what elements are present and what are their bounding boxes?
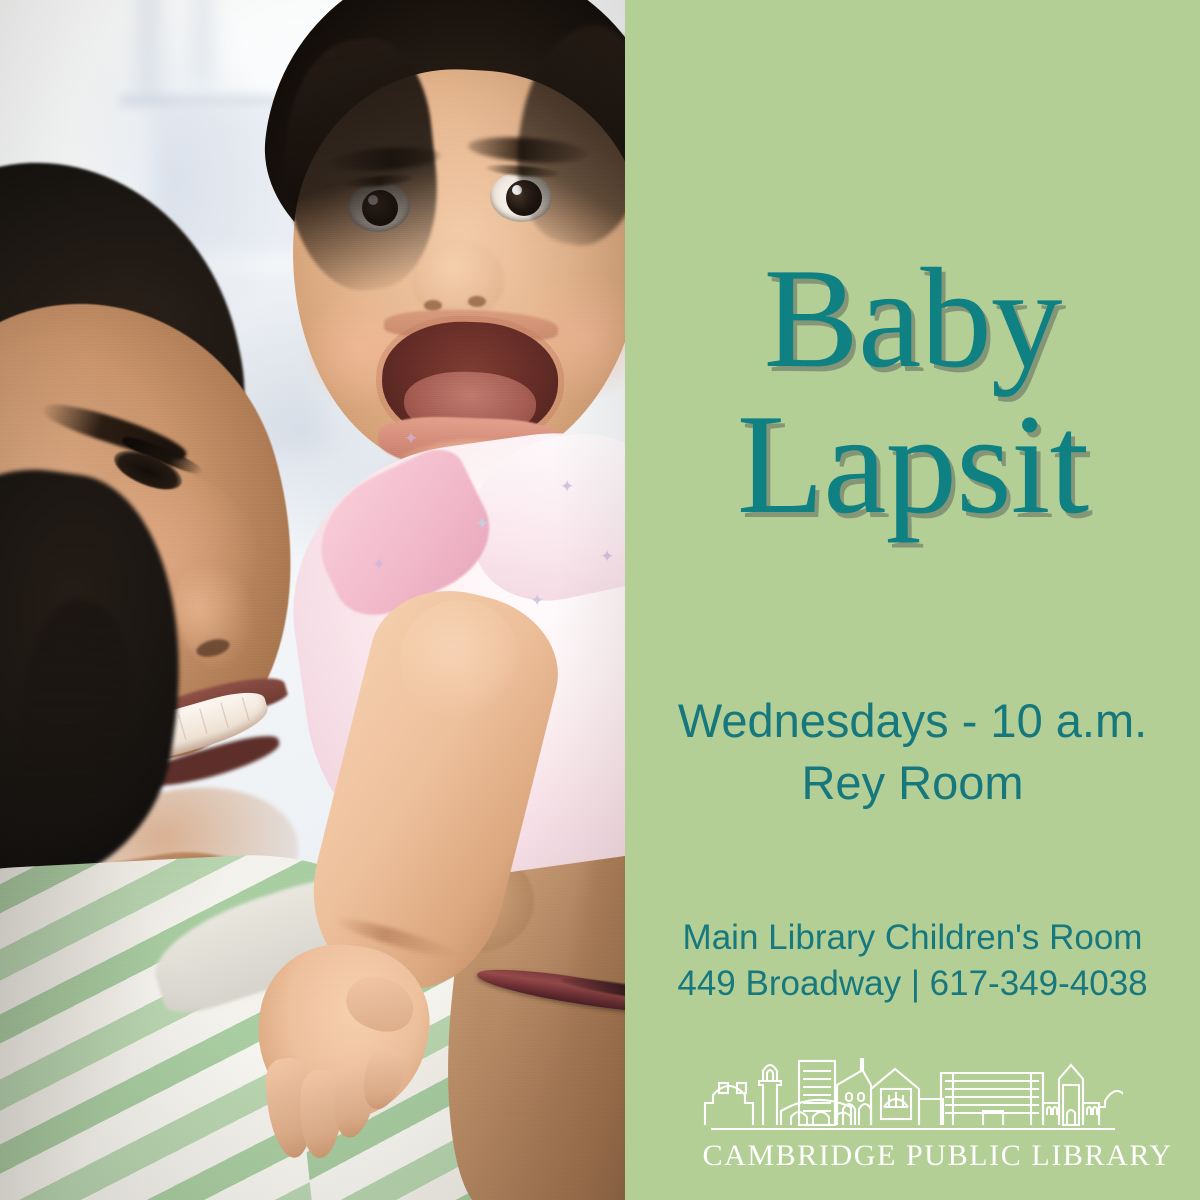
address-location: Main Library Children's Room <box>625 915 1200 961</box>
address-street-phone: 449 Broadway | 617-349-4038 <box>625 961 1200 1007</box>
schedule-when: Wednesdays - 10 a.m. <box>625 690 1200 752</box>
venue-address: Main Library Children's Room 449 Broadwa… <box>625 915 1200 1007</box>
info-panel: Baby Lapsit Wednesdays - 10 a.m. Rey Roo… <box>625 0 1200 1200</box>
outfit-star-icon: ✦ <box>372 556 386 573</box>
event-schedule: Wednesdays - 10 a.m. Rey Room <box>625 690 1200 814</box>
outfit-star-icon: ✦ <box>600 548 614 565</box>
baby-elbow <box>400 600 520 720</box>
window-pane <box>138 0 160 100</box>
outfit-star-icon: ✦ <box>404 430 418 447</box>
logo-divider <box>711 1128 1115 1130</box>
event-title-line-2: Lapsit <box>625 394 1200 536</box>
city-skyline-icon <box>703 1055 1123 1127</box>
outfit-star-icon: ✦ <box>475 515 489 532</box>
baby-lapsit-poster: ✦ ✦ ✦ ✦ ✦ ✦ ✦ Baby Lapsit We <box>0 0 1200 1200</box>
library-logo: CAMBRIDGE PUBLIC LIBRARY <box>703 1055 1123 1173</box>
window-pane <box>195 0 211 87</box>
outfit-star-icon: ✦ <box>560 478 574 495</box>
outfit-star-icon: ✦ <box>530 592 544 609</box>
event-title-line-1: Baby <box>625 248 1200 390</box>
schedule-room: Rey Room <box>625 752 1200 814</box>
logo-wordmark: CAMBRIDGE PUBLIC LIBRARY <box>703 1139 1123 1173</box>
baby-nostril <box>468 296 486 307</box>
hero-photo: ✦ ✦ ✦ ✦ ✦ ✦ ✦ <box>0 0 625 1200</box>
photo-stage: ✦ ✦ ✦ ✦ ✦ ✦ ✦ <box>0 0 625 1200</box>
event-title: Baby Lapsit <box>625 248 1200 535</box>
